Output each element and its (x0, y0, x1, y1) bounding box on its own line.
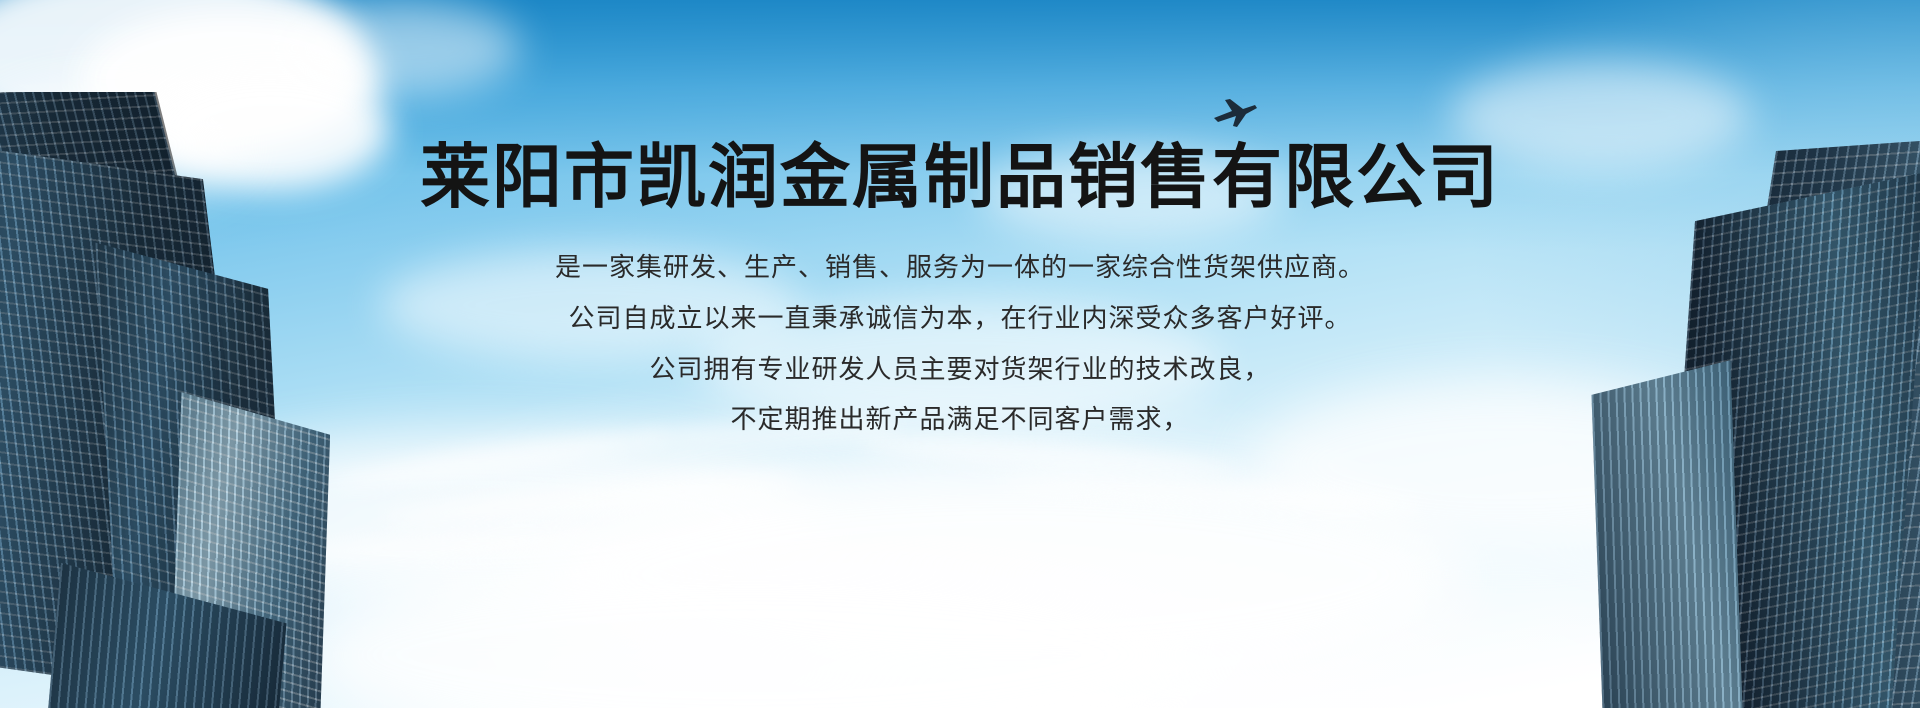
skyscraper (1591, 360, 1745, 708)
left-skyscrapers (0, 92, 330, 708)
company-hero-banner: 莱阳市凯润金属制品销售有限公司 是一家集研发、生产、销售、服务为一体的一家综合性… (0, 0, 1920, 708)
cloud (700, 300, 1220, 430)
airplane-icon (1212, 98, 1258, 128)
right-skyscrapers (1590, 110, 1920, 708)
cloud (980, 150, 1280, 240)
cloud (280, 0, 520, 96)
